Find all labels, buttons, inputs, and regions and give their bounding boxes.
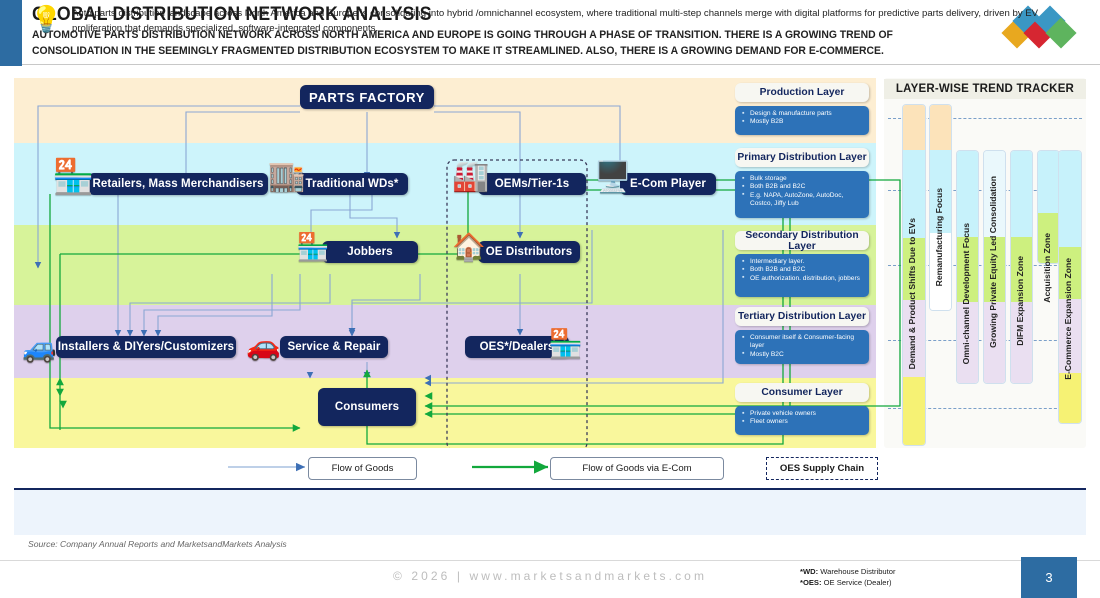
trend-bar-label: DIFM Expansion Zone [1015,256,1025,346]
header-divider [22,64,1100,65]
layer-title-tertiary: Tertiary Distribution Layer [735,307,869,326]
node-consumers[interactable]: Consumers [318,388,416,426]
footnote-wd-key: *WD: [800,567,818,576]
layer-title-production: Production Layer [735,83,869,102]
layer-title-secondary: Secondary Distribution Layer [735,231,869,250]
layer-bullet: Mostly B2B [750,118,865,126]
layer-bullet: Design & manufacture parts [750,110,865,118]
slide-root: GLOBAL DISTRIBUTION NETWORK ANALYSIS AUT… [0,0,1100,598]
layer-title-consumer: Consumer Layer [735,383,869,402]
layer-bullet: OE authorization. distribution, jobbers [750,275,865,283]
store-icon: 🏪 [52,160,94,194]
car-repair-icon: 🚗 [246,332,281,360]
footer-copyright: © 2026 | www.marketsandmarkets.com [370,569,730,583]
layer-bullet: Intermediary layer. [750,258,865,266]
node-oe-distributors[interactable]: OE Distributors [478,241,580,263]
layer-details-consumer: Private vehicle owners Fleet owners [735,406,869,435]
diy-car-icon: 🚙 [22,334,57,362]
node-ecom-player[interactable]: E-Com Player [620,173,716,195]
footnote-oes-val: OE Service (Dealer) [822,578,892,587]
footnote-wd: *WD: Warehouse Distributor [800,566,896,577]
layer-details-secondary: Intermediary layer. Both B2B and B2C OE … [735,254,869,297]
footnote-wd-val: Warehouse Distributor [818,567,895,576]
layer-bullet: Fleet owners [750,418,865,426]
source-note: Source: Company Annual Reports and Marke… [28,539,287,549]
trend-bar-label: Acquisition Zone [1042,233,1052,303]
node-installers-diyers[interactable]: Installers & DIYers/Customizers [56,336,236,358]
node-service-repair[interactable]: Service & Repair [280,336,388,358]
trend-bar-label: E-Commerce Expansion Zone [1063,258,1073,380]
layer-bullet: Bulk storage [750,175,865,183]
node-oems-tier1s[interactable]: OEMs/Tier-1s [478,173,586,195]
legend-oes-supply-chain: OES Supply Chain [766,457,878,480]
trend-bar-label: Growing Private Equity Led Consolidation [988,176,998,348]
ecommerce-monitor-icon: 🖥️ [594,163,631,193]
insight-text: Auto parts distribution landscape across… [72,6,1072,36]
layer-bullet: E.g. NAPA, AutoZone, AutoDoc, Costco, Ji… [750,192,865,209]
node-retailers[interactable]: Retailers, Mass Merchandisers [88,173,268,195]
layer-details-primary: Bulk storage Both B2B and B2C E.g. NAPA,… [735,171,869,218]
warehouse-icon: 🏬 [268,162,305,192]
trend-bar-label: Remanufacturing Focus [934,188,944,286]
layer-bullet: Mostly B2C [750,351,865,359]
layer-bullet: Both B2B and B2C [750,183,865,191]
dealership-icon: 🏪 [548,330,583,358]
legend-flow-of-goods-ecom: Flow of Goods via E-Com [550,457,724,480]
layer-title-primary: Primary Distribution Layer [735,148,869,167]
factory-icon: 🏭 [452,162,489,192]
layer-bullet: Consumer itself & Consumer-facing layer [750,334,865,351]
layer-details-tertiary: Consumer itself & Consumer-facing layer … [735,330,869,364]
trend-bar-label: Demand & Product Shifts Due to EVs [907,218,917,369]
node-traditional-wds[interactable]: Traditional WDs* [296,173,408,195]
legend-flow-of-goods: Flow of Goods [308,457,417,480]
layer-bullet: Private vehicle owners [750,410,865,418]
shop-stall-icon: 🏪 [296,234,330,261]
layer-details-production: Design & manufacture parts Mostly B2B [735,106,869,135]
network-diagram: PARTS FACTORY 🏪 Retailers, Mass Merchand… [0,78,1100,448]
footer-divider [0,560,1100,561]
header-accent-bar [0,0,22,66]
node-jobbers[interactable]: Jobbers [322,241,418,263]
node-parts-factory[interactable]: PARTS FACTORY [300,85,434,109]
diagram-legend: Flow of Goods Flow of Goods via E-Com OE… [0,452,1100,488]
insight-panel [14,488,1086,535]
footnote-oes: *OES: OE Service (Dealer) [800,577,896,588]
footnote-oes-key: *OES: [800,578,822,587]
trend-bar-label: Omni-channel Development Focus [961,223,971,364]
layer-bullet: Both B2B and B2C [750,266,865,274]
footer-abbreviations: *WD: Warehouse Distributor *OES: OE Serv… [800,566,896,588]
page-number: 3 [1021,557,1077,598]
distribution-house-icon: 🏠 [452,234,486,261]
lightbulb-icon: 💡 [30,6,62,32]
